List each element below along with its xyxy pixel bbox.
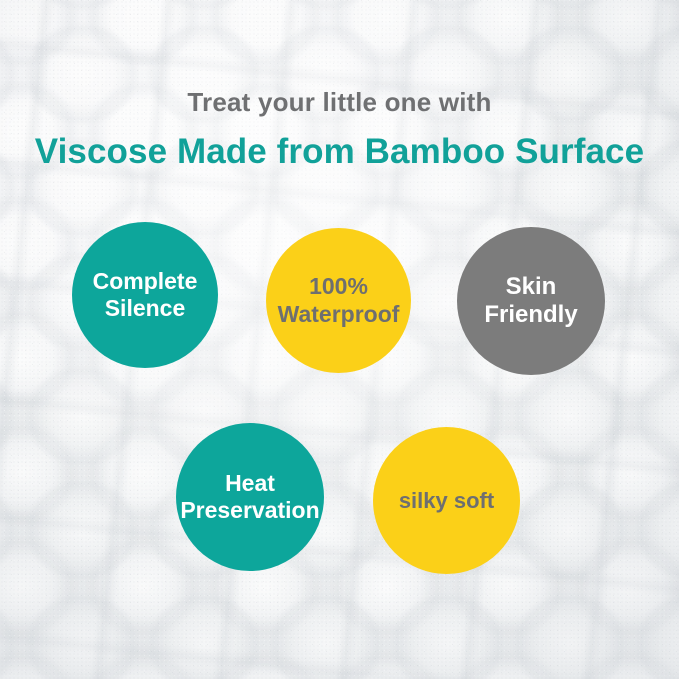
feature-label-line2: Silence: [105, 295, 186, 321]
feature-badge-skin-friendly: Skin Friendly: [457, 227, 605, 375]
heading-block: Treat your little one with Viscose Made …: [0, 88, 679, 171]
feature-badge-complete-silence: Complete Silence: [72, 222, 218, 368]
feature-badge-label: 100% Waterproof: [266, 273, 411, 327]
feature-badge-label: silky soft: [373, 488, 520, 514]
feature-badge-label: Heat Preservation: [176, 470, 324, 524]
feature-badge-waterproof: 100% Waterproof: [266, 228, 411, 373]
feature-label-line2: Waterproof: [278, 301, 400, 327]
feature-badge-silky-soft: silky soft: [373, 427, 520, 574]
feature-label-line2: Friendly: [484, 301, 577, 328]
feature-label-line1: Skin: [506, 273, 557, 300]
feature-label-line2: Preservation: [180, 497, 319, 523]
feature-badge-heat-preservation: Heat Preservation: [176, 423, 324, 571]
feature-label-line1: Heat: [225, 470, 275, 496]
feature-label-line1: Complete: [93, 268, 198, 294]
poster-subtitle: Treat your little one with: [0, 88, 679, 117]
feature-badge-label: Skin Friendly: [457, 273, 605, 330]
feature-label-line1: 100%: [309, 273, 368, 299]
feature-label-line1: silky soft: [399, 488, 494, 513]
product-feature-poster: Treat your little one with Viscose Made …: [0, 0, 679, 679]
poster-title: Viscose Made from Bamboo Surface: [0, 133, 679, 172]
feature-badge-label: Complete Silence: [72, 268, 218, 322]
